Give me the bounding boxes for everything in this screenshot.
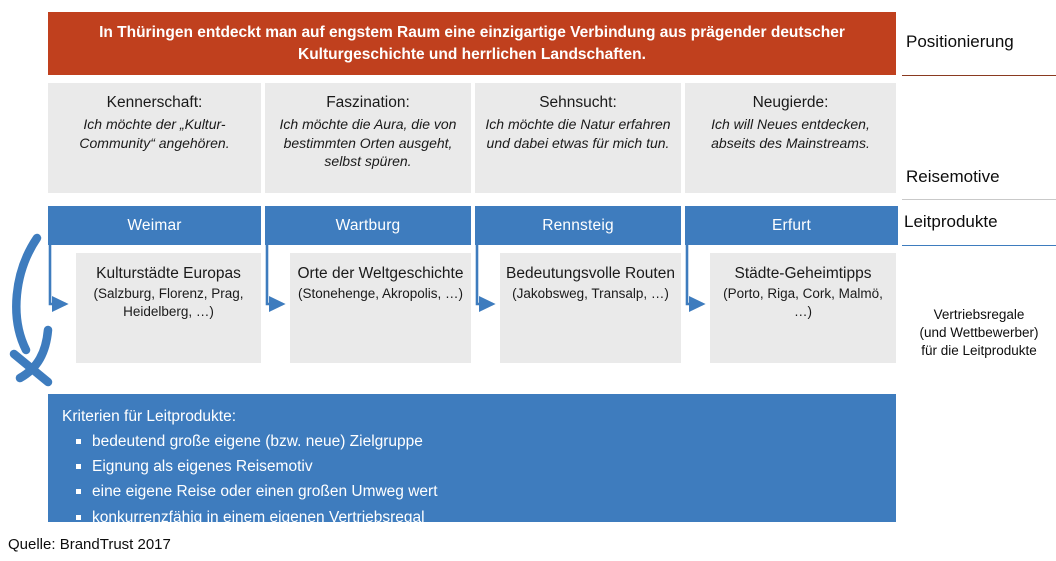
reisemotiv-title: Neugierde: [753, 93, 829, 114]
vertriebsregal-examples: (Porto, Riga, Cork, Malmö, …) [716, 285, 890, 320]
leitprodukt-label: Wartburg [336, 217, 401, 235]
curved-arrow-icon [4, 232, 86, 394]
reisemotiv-card-kennerschaft: Kennerschaft: Ich möchte der „Kultur-Com… [48, 83, 261, 193]
reisemotiv-description: Ich möchte der „Kultur-Community“ angehö… [54, 115, 255, 152]
criteria-bullet: bedeutend große eigene (bzw. neue) Zielg… [62, 429, 896, 454]
vertriebsregal-card-kulturstaedte: Kulturstädte Europas (Salzburg, Florenz,… [76, 253, 261, 363]
elbow-arrow-icon-wartburg [267, 242, 283, 304]
reisemotiv-title: Faszination: [326, 93, 410, 114]
reisemotiv-title: Kennerschaft: [107, 93, 203, 114]
criteria-bullet-list: bedeutend große eigene (bzw. neue) Zielg… [62, 429, 896, 529]
rail-label-reisemotive: Reisemotive [906, 167, 1000, 187]
rail-label-positionierung: Positionierung [906, 32, 1014, 52]
curved-arrow-shaft [16, 238, 37, 350]
reisemotiv-card-sehnsucht: Sehnsucht: Ich möchte die Natur erfahren… [475, 83, 681, 193]
rail-label-vertriebsregale-line1: Vertriebsregale [904, 306, 1054, 324]
criteria-title: Kriterien für Leitprodukte: [62, 405, 896, 428]
vertriebsregal-examples: (Jakobsweg, Transalp, …) [512, 285, 669, 303]
rail-label-vertriebsregale-line2: (und Wettbewerber) [904, 324, 1054, 342]
reisemotiv-description: Ich will Neues entdecken, abseits des Ma… [691, 115, 890, 152]
vertriebsregal-examples: (Stonehenge, Akropolis, …) [298, 285, 463, 303]
rail-divider-positionierung [902, 75, 1056, 76]
criteria-panel: Kriterien für Leitprodukte: bedeutend gr… [48, 394, 896, 522]
vertriebsregal-card-orte-weltgeschichte: Orte der Weltgeschichte (Stonehenge, Akr… [290, 253, 471, 363]
reisemotiv-description: Ich möchte die Aura, die von bestimmten … [271, 115, 465, 171]
elbow-arrow-icon-erfurt [687, 242, 703, 304]
vertriebsregal-title: Bedeutungsvolle Routen [506, 264, 675, 283]
vertriebsregal-title: Kulturstädte Europas [96, 264, 241, 283]
criteria-bullet: eine eigene Reise oder einen großen Umwe… [62, 479, 896, 504]
vertriebsregal-card-staedte-geheimtipps: Städte-Geheimtipps (Porto, Riga, Cork, M… [710, 253, 896, 363]
leitprodukt-label: Weimar [127, 217, 181, 235]
leitprodukt-label: Erfurt [772, 217, 811, 235]
leitprodukt-label: Rennsteig [542, 217, 614, 235]
rail-label-vertriebsregale: Vertriebsregale (und Wettbewerber) für d… [904, 306, 1054, 360]
criteria-bullet: Eignung als eigenes Reisemotiv [62, 454, 896, 479]
elbow-arrow-icon-rennsteig [477, 242, 493, 304]
vertriebsregal-title: Orte der Weltgeschichte [298, 264, 464, 283]
rail-divider-leitprodukte [902, 245, 1056, 246]
rail-label-leitprodukte: Leitprodukte [904, 212, 998, 232]
vertriebsregal-examples: (Salzburg, Florenz, Prag, Heidelberg, …) [82, 285, 255, 320]
vertriebsregal-card-bedeutungsvolle-routen: Bedeutungsvolle Routen (Jakobsweg, Trans… [500, 253, 681, 363]
criteria-bullet: konkurrenzfähig in einem eigenen Vertrie… [62, 505, 896, 530]
reisemotiv-title: Sehnsucht: [539, 93, 617, 114]
positioning-statement: In Thüringen entdeckt man auf engstem Ra… [62, 22, 882, 66]
reisemotiv-card-neugierde: Neugierde: Ich will Neues entdecken, abs… [685, 83, 896, 193]
reisemotiv-card-faszination: Faszination: Ich möchte die Aura, die vo… [265, 83, 471, 193]
source-note: Quelle: BrandTrust 2017 [8, 536, 171, 553]
diagram-canvas: In Thüringen entdeckt man auf engstem Ra… [0, 0, 1056, 561]
rail-divider-reisemotive [902, 199, 1056, 200]
reisemotiv-description: Ich möchte die Natur erfahren und dabei … [481, 115, 675, 152]
positioning-banner: In Thüringen entdeckt man auf engstem Ra… [48, 12, 896, 75]
rail-label-vertriebsregale-line3: für die Leitprodukte [904, 342, 1054, 360]
vertriebsregal-title: Städte-Geheimtipps [735, 264, 872, 283]
